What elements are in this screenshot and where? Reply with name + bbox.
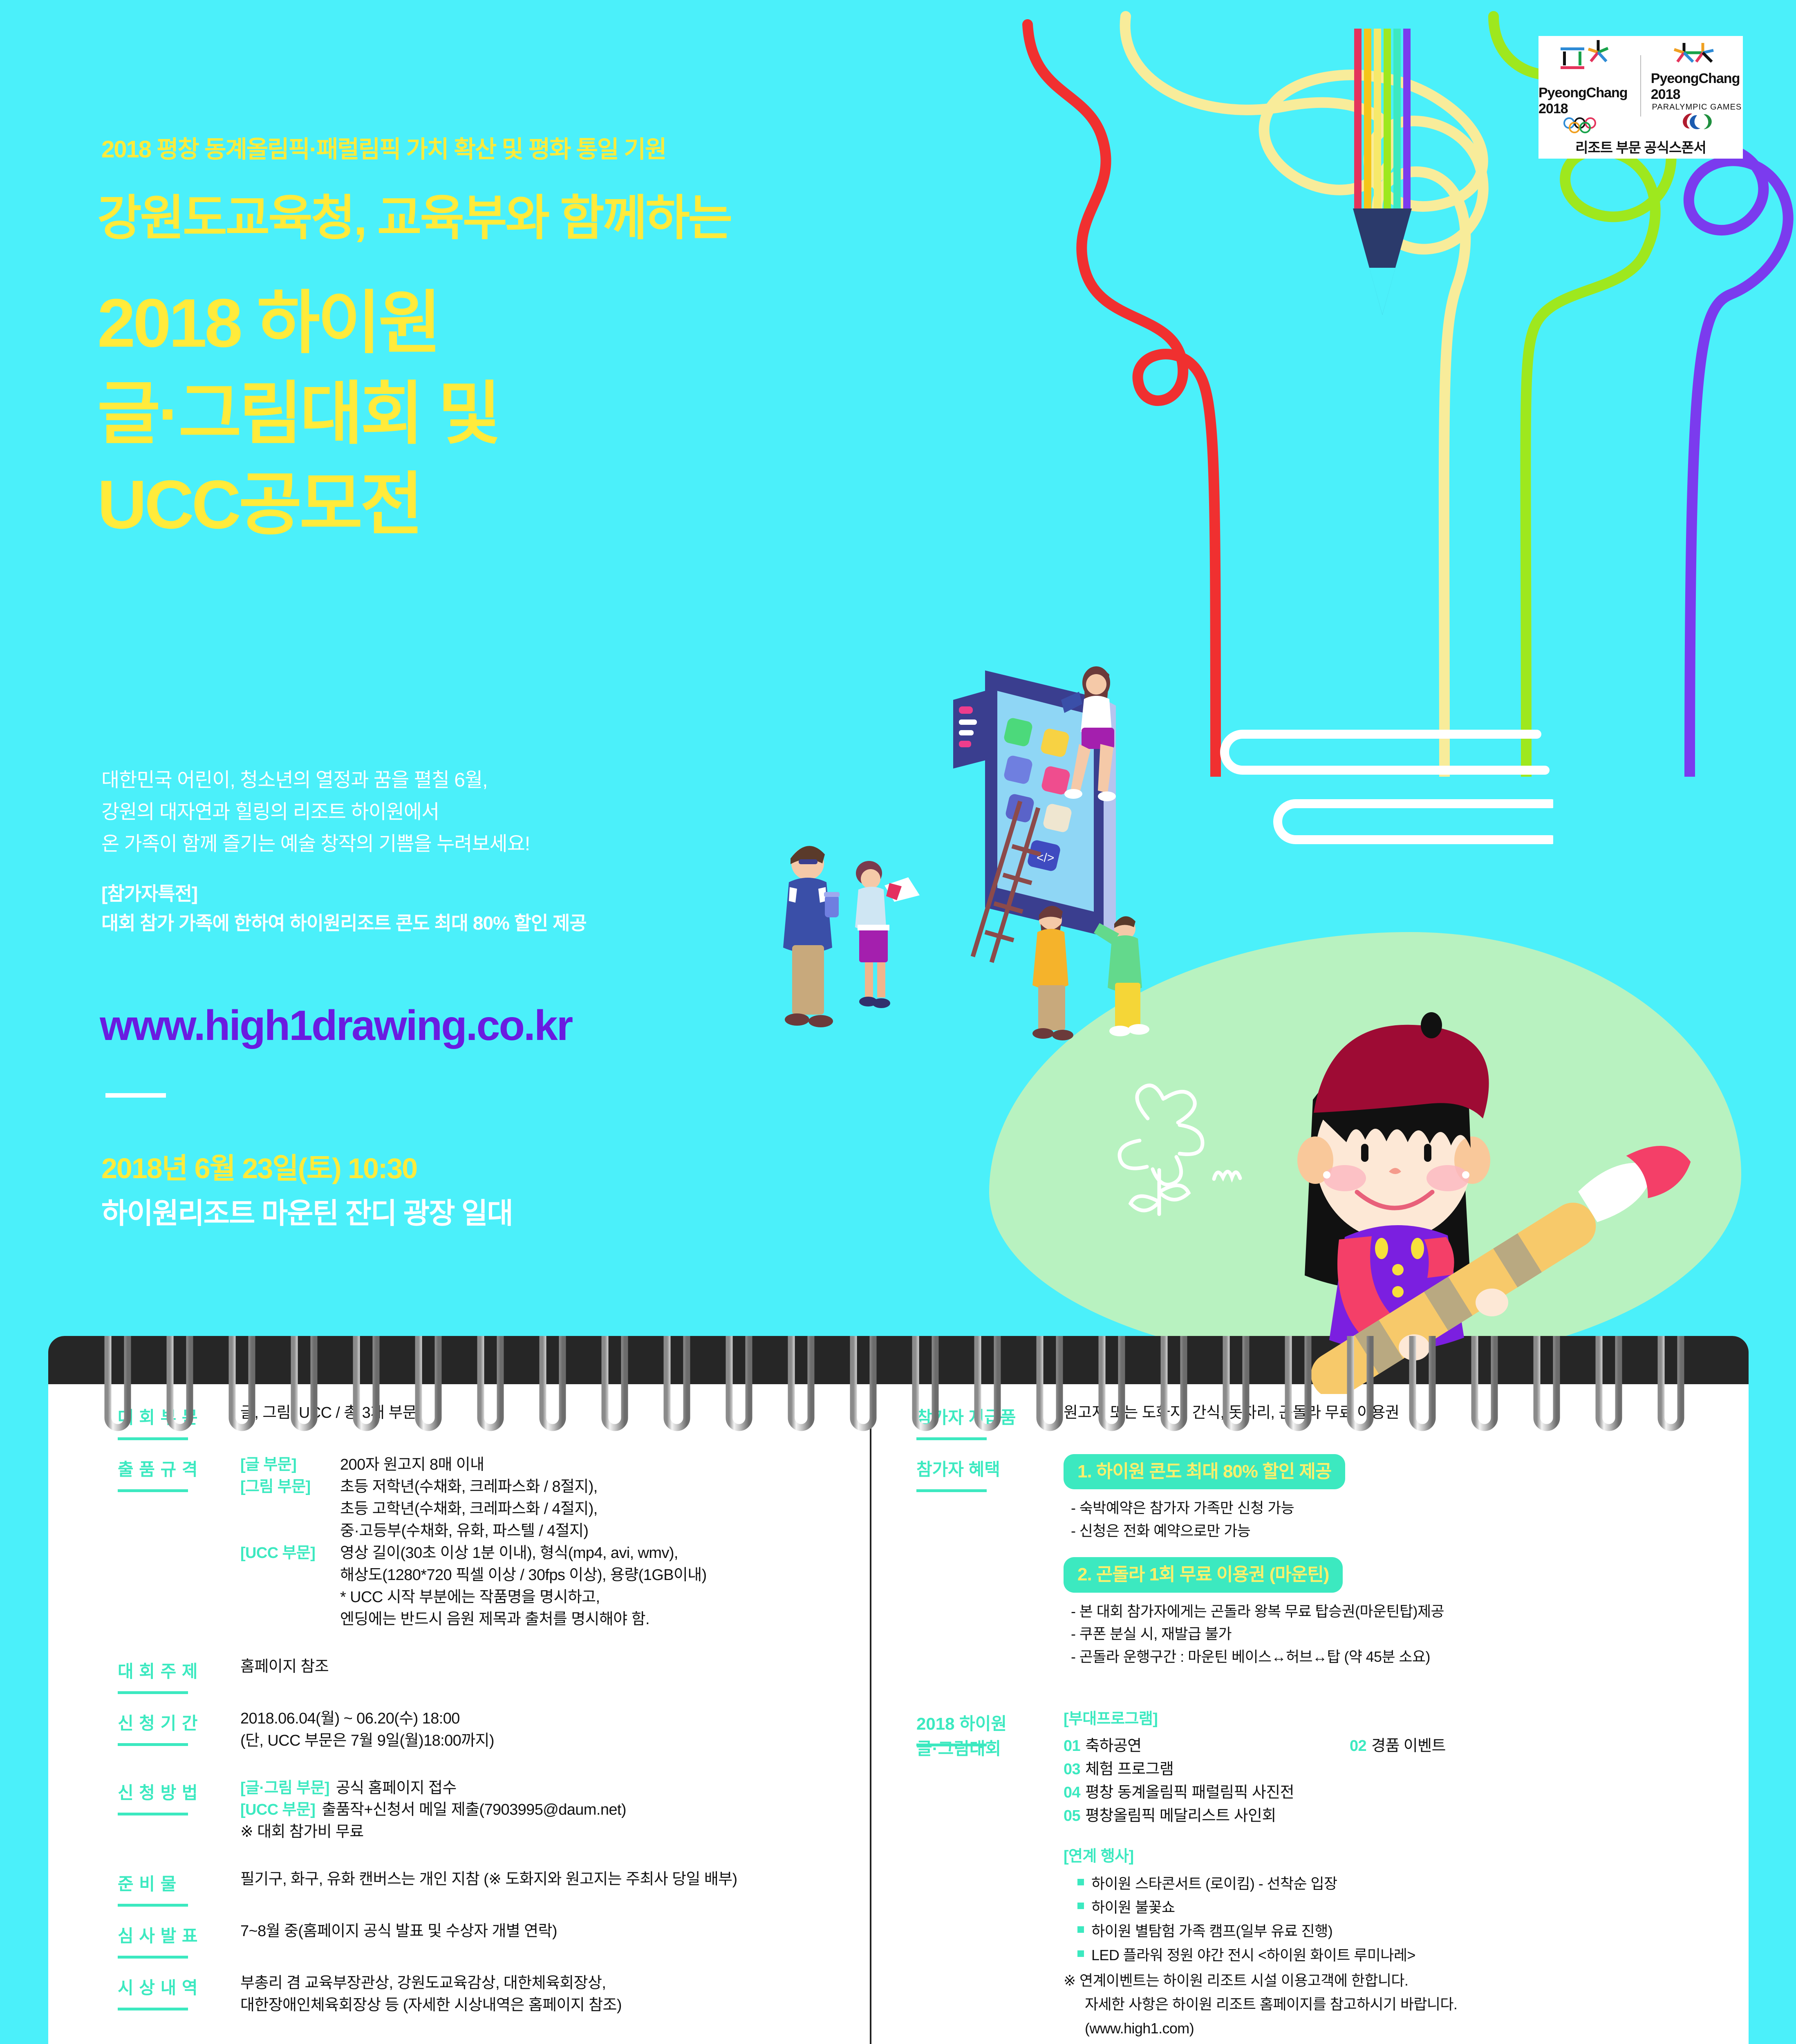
body-side-programs: [부대프로그램] 01 축하공연 02 경품 이벤트 03 체험 프로그램 — [1064, 1708, 1749, 2040]
label-awards: 시 상 내 역 — [118, 1972, 240, 2017]
spiral-ring — [356, 1336, 376, 1428]
spiral-ring — [108, 1336, 128, 1428]
program-number: 05 — [1064, 1804, 1080, 1828]
spec-writing: [글 부문] 200자 원고지 8매 이내 — [240, 1454, 870, 1476]
row-awards: 시 상 내 역 부총리 겸 교육부장관상, 강원도교육감상, 대한체육회장상, … — [118, 1972, 870, 2017]
spiral-ring — [978, 1336, 997, 1428]
label-participant-benefits: 참가자 혜택 — [916, 1454, 1064, 1683]
list-item: 하이원 별탐험 가족 캠프(일부 유료 진행) — [1064, 1919, 1749, 1943]
olympic-name: PyeongChang 2018 — [1538, 85, 1630, 117]
sponsor-marks: PyeongChang 2018 — [1538, 38, 1743, 133]
spiral-ring — [1599, 1336, 1619, 1428]
row-application-method: 신 청 방 법 [글·그림 부문] 공식 홈페이지 접수 [UCC 부문] 출품… — [118, 1777, 870, 1844]
spiral-ring — [791, 1336, 811, 1428]
text-line: 해상도(1280*720 픽셀 이상 / 30fps 이상), 용량(1GB이내… — [240, 1564, 870, 1587]
spiral-ring — [1040, 1336, 1059, 1428]
text-writing-drawing: 공식 홈페이지 접수 — [336, 1777, 457, 1800]
tag-drawing: [그림 부문] — [240, 1476, 334, 1498]
spiral-rings-host — [48, 1324, 1749, 1446]
body-application-period: 2018.06.04(월) ~ 06.20(수) 18:00 (단, UCC 부… — [240, 1708, 870, 1752]
event-place: 하이원리조트 마운틴 잔디 광장 일대 — [101, 1190, 513, 1232]
label-side-programs: 2018 하이원 글·그림대회 — [916, 1708, 1064, 2040]
details-left-column: 대 회 부 문 글, 그림, UCC / 총 3개 부문 출 품 규 격 [글 … — [48, 1402, 870, 2044]
text-ucc: 영상 길이(30초 이상 1분 이내), 형식(mp4, avi, wmv), — [340, 1542, 678, 1564]
paralympic-subtitle: PARALYMPIC GAMES — [1652, 103, 1742, 112]
program-number: 02 — [1350, 1735, 1366, 1758]
text-line: 필기구, 화구, 유화 캔버스는 개인 지참 (※ 도화지와 원고지는 주최사 … — [240, 1869, 870, 1891]
row-application-period: 신 청 기 간 2018.06.04(월) ~ 06.20(수) 18:00 (… — [118, 1708, 870, 1752]
text-line: 부총리 겸 교육부장관상, 강원도교육감상, 대한체육회장상, — [240, 1972, 870, 1995]
body-preparations: 필기구, 화구, 유화 캔버스는 개인 지참 (※ 도화지와 원고지는 주최사 … — [240, 1869, 870, 1895]
event-label: 하이원 스타콘서트 (로이킴) - 선착순 입장 — [1091, 1872, 1337, 1896]
text-line: 대한장애인체육회장상 등 (자세한 시상내역은 홈페이지 참조) — [240, 1995, 870, 2017]
spiral-ring — [916, 1336, 935, 1428]
text-line: (단, UCC 부문은 7월 9일(월)18:00까지) — [240, 1730, 870, 1752]
text-line: - 숙박예약은 참가자 가족만 신청 가능 — [1071, 1497, 1749, 1520]
row-competition-theme: 대 회 주 제 홈페이지 참조 — [118, 1656, 870, 1683]
body-participant-benefits: 1. 하이원 콘도 최대 80% 할인 제공 - 숙박예약은 참가자 가족만 신… — [1064, 1454, 1749, 1683]
event-label: 하이원 별탐험 가족 캠프(일부 유료 진행) — [1091, 1919, 1332, 1943]
poster-root: PyeongChang 2018 — [0, 0, 1796, 2044]
label-application-method: 신 청 방 법 — [118, 1777, 240, 1844]
label-application-period: 신 청 기 간 — [118, 1708, 240, 1752]
method-ucc: [UCC 부문] 출품작+신청서 메일 제출(7903995@daum.net) — [240, 1799, 870, 1821]
spiral-ring — [481, 1336, 500, 1428]
lede-paragraph: 대한민국 어린이, 청소년의 열정과 꿈을 펼칠 6월, 강원의 대자연과 힐링… — [101, 764, 530, 860]
sponsor-caption: 리조트 부문 공식스폰서 — [1575, 137, 1706, 157]
method-writing-drawing: [글·그림 부문] 공식 홈페이지 접수 — [240, 1777, 870, 1800]
bullet-square-icon — [1077, 1950, 1084, 1957]
bullet-square-icon — [1077, 1903, 1084, 1909]
list-item: LED 플라워 정원 야간 전시 <하이원 화이트 루미나레> — [1064, 1943, 1749, 1967]
details-columns: 대 회 부 문 글, 그림, UCC / 총 3개 부문 출 품 규 격 [글 … — [48, 1402, 1749, 2044]
benefit-title-2: 2. 곤돌라 1회 무료 이용권 (마운틴) — [1064, 1557, 1343, 1592]
benefit-bullets-1: - 숙박예약은 참가자 가족만 신청 가능 - 신청은 전화 예약으로만 가능 — [1064, 1497, 1749, 1542]
program-item: 01 축하공연 — [1064, 1735, 1350, 1758]
text-method-ucc: 출품작+신청서 메일 제출(7903995@daum.net) — [322, 1799, 626, 1821]
divider-rule — [105, 1093, 166, 1098]
text-line: 7~8월 중(홈페이지 공식 발표 및 수상자 개별 연락) — [240, 1921, 870, 1943]
text-line: 홈페이지 참조 — [240, 1656, 870, 1678]
side-programs-grid: 01 축하공연 02 경품 이벤트 03 체험 프로그램 04 — [1064, 1735, 1749, 1828]
text-line: * UCC 시작 부분에는 작품명을 명시하고, — [240, 1587, 870, 1609]
row-preparations: 준 비 물 필기구, 화구, 유화 캔버스는 개인 지참 (※ 도화지와 원고지… — [118, 1869, 870, 1895]
paralympic-name: PyeongChang 2018 — [1651, 71, 1743, 103]
spiral-ring — [1350, 1336, 1370, 1428]
olympic-mark: PyeongChang 2018 — [1538, 38, 1630, 133]
spiral-ring — [1164, 1336, 1184, 1428]
spiral-ring — [1226, 1336, 1246, 1428]
svg-text:</>: </> — [1037, 851, 1054, 865]
spiral-ring — [232, 1336, 252, 1428]
boy-with-cup-illustration — [756, 838, 862, 1051]
bullet-square-icon — [1077, 1926, 1084, 1933]
spiral-rings — [48, 1324, 1749, 1446]
text-line: - 본 대회 참가자에게는 곤돌라 왕복 무료 탑승권(마운틴탑)제공 — [1071, 1600, 1749, 1623]
benefit-title-1: 1. 하이원 콘도 최대 80% 할인 제공 — [1064, 1454, 1345, 1489]
spiral-ring — [1661, 1336, 1681, 1428]
row-side-programs: 2018 하이원 글·그림대회 [부대프로그램] 01 축하공연 02 경품 이… — [916, 1708, 1749, 2040]
body-submission-specs: [글 부문] 200자 원고지 8매 이내 [그림 부문] 초등 저학년(수채화… — [240, 1454, 870, 1631]
spiral-ring — [667, 1336, 687, 1428]
program-label: 평창올림픽 메달리스트 사인회 — [1085, 1804, 1276, 1828]
spiral-ring — [1537, 1336, 1556, 1428]
text-line: ※ 연계이벤트는 하이원 리조트 시설 이용고객에 한합니다. — [1064, 1969, 1749, 1992]
tag-ucc: [UCC 부문] — [240, 1542, 334, 1564]
text-line: 2018.06.04(월) ~ 06.20(수) 18:00 — [240, 1708, 870, 1730]
spiral-ring — [729, 1336, 749, 1428]
text-line: ※ 대회 참가비 무료 — [240, 1821, 870, 1843]
olympic-sponsor-badge: PyeongChang 2018 — [1538, 36, 1743, 159]
spiral-ring — [294, 1336, 314, 1428]
page-title: 2018 하이원 글·그림대회 및 UCC공모전 — [97, 278, 499, 550]
spiral-ring — [543, 1336, 562, 1428]
text-line: 자세한 사항은 하이원 리조트 홈페이지를 참고하시기 바랍니다. — [1064, 1992, 1749, 2016]
website-url-link[interactable]: www.high1drawing.co.kr — [100, 1002, 572, 1050]
body-competition-theme: 홈페이지 참조 — [240, 1656, 870, 1683]
spec-ucc: [UCC 부문] 영상 길이(30초 이상 1분 이내), 형식(mp4, av… — [240, 1542, 870, 1564]
list-item: 하이원 불꽃쇼 — [1064, 1896, 1749, 1919]
pyeongchang-olympic-emblem-icon — [1554, 38, 1615, 83]
body-results-announcement: 7~8월 중(홈페이지 공식 발표 및 수상자 개별 연락) — [240, 1921, 870, 1947]
program-item: 02 경품 이벤트 — [1350, 1735, 1636, 1758]
event-date: 2018년 6월 23일(토) 10:30 — [101, 1145, 417, 1187]
rainbow-pencil-icon — [1308, 29, 1455, 519]
linked-events-heading: [연계 행사] — [1064, 1846, 1749, 1868]
participant-perk-text: 대회 참가 가족에 한하여 하이원리조트 콘도 최대 80% 할인 제공 — [101, 908, 587, 935]
program-label: 체험 프로그램 — [1085, 1758, 1173, 1781]
label-competition-theme: 대 회 주 제 — [118, 1656, 240, 1683]
spec-drawing: [그림 부문] 초등 저학년(수채화, 크레파스화 / 8절지), — [240, 1476, 870, 1498]
text-writing: 200자 원고지 8매 이내 — [340, 1454, 484, 1476]
badge-divider — [1640, 55, 1641, 117]
spiral-ring — [605, 1336, 625, 1428]
green-blob-shape — [989, 932, 1741, 1365]
eyebrow-text: 2018 평창 동계올림픽·패럴림픽 가치 확산 및 평화 통일 기원 — [101, 130, 666, 164]
program-number: 03 — [1064, 1758, 1080, 1781]
text-line: 초등 고학년(수채화, 크레파스화 / 4절지), — [240, 1498, 870, 1520]
bullet-square-icon — [1077, 1879, 1084, 1885]
programs-label-line2: 글·그림대회 — [916, 1735, 1064, 1760]
spiral-ring — [1413, 1336, 1432, 1428]
tag-writing: [글 부문] — [240, 1454, 334, 1476]
text-line: 엔딩에는 반드시 음원 제목과 출처를 명시해야 함. — [240, 1609, 870, 1631]
row-results-announcement: 심 사 발 표 7~8월 중(홈페이지 공식 발표 및 수상자 개별 연락) — [118, 1921, 870, 1947]
benefit-bullets-2: - 본 대회 참가자에게는 곤돌라 왕복 무료 탑승권(마운틴탑)제공 - 쿠폰… — [1064, 1600, 1749, 1668]
program-label: 경품 이벤트 — [1371, 1735, 1446, 1758]
label-submission-specs: 출 품 규 격 — [118, 1454, 240, 1631]
text-line: - 신청은 전화 예약으로만 가능 — [1071, 1520, 1749, 1542]
text-line: - 곤돌라 운행구간 : 마운틴 베이스↔허브↔탑 (약 45분 소요) — [1071, 1645, 1749, 1668]
list-item: 하이원 스타콘서트 (로이킴) - 선착순 입장 — [1064, 1872, 1749, 1896]
participant-perk-label: [참가자특전] — [101, 879, 197, 906]
row-participant-benefits: 참가자 혜택 1. 하이원 콘도 최대 80% 할인 제공 - 숙박예약은 참가… — [916, 1454, 1749, 1683]
tag-method-ucc: [UCC 부문] — [240, 1799, 315, 1821]
program-item: 04 평창 동계올림픽 패럴림픽 사진전 — [1064, 1781, 1554, 1804]
body-application-method: [글·그림 부문] 공식 홈페이지 접수 [UCC 부문] 출품작+신청서 메일… — [240, 1777, 870, 1844]
details-right-column: 참가자 지급품 원고지 또는 도화지, 간식, 돗자리, 곤돌라 무료 이용권 … — [870, 1402, 1749, 2044]
label-preparations: 준 비 물 — [118, 1869, 240, 1895]
spiral-ring — [170, 1336, 190, 1428]
pyeongchang-paralympic-emblem-icon — [1666, 40, 1727, 69]
spiral-ring — [853, 1336, 873, 1428]
spiral-ring — [419, 1336, 438, 1428]
side-programs-heading: [부대프로그램] — [1064, 1708, 1749, 1730]
agitos-icon — [1678, 112, 1715, 131]
program-label: 축하공연 — [1085, 1735, 1141, 1758]
text-line: - 쿠폰 분실 시, 재발급 불가 — [1071, 1623, 1749, 1645]
white-loop-lines-icon — [1104, 719, 1553, 908]
event-label: 하이원 불꽃쇼 — [1091, 1896, 1175, 1919]
text-line: (www.high1.com) — [1064, 2017, 1749, 2040]
tag-writing-drawing: [글·그림 부문] — [240, 1777, 329, 1800]
linked-events-note: ※ 연계이벤트는 하이원 리조트 시설 이용고객에 한합니다. 자세한 사항은 … — [1064, 1969, 1749, 2040]
paralympic-mark: PyeongChang 2018 PARALYMPIC GAMES — [1651, 40, 1743, 131]
linked-events-list: 하이원 스타콘서트 (로이킴) - 선착순 입장 하이원 불꽃쇼 하이원 별탐험… — [1064, 1872, 1749, 2040]
body-awards: 부총리 겸 교육부장관상, 강원도교육감상, 대한체육회장상, 대한장애인체육회… — [240, 1972, 870, 2017]
programs-label-line1: 2018 하이원 — [916, 1710, 1064, 1735]
spiral-ring — [1475, 1336, 1494, 1428]
program-item: 05 평창올림픽 메달리스트 사인회 — [1064, 1804, 1276, 1828]
event-label: LED 플라워 정원 야간 전시 <하이원 화이트 루미나레> — [1091, 1943, 1415, 1967]
program-number: 04 — [1064, 1781, 1080, 1804]
program-number: 01 — [1064, 1735, 1080, 1758]
label-results-announcement: 심 사 발 표 — [118, 1921, 240, 1947]
program-item: 03 체험 프로그램 — [1064, 1758, 1350, 1781]
olympic-rings-icon — [1560, 117, 1609, 133]
text-drawing: 초등 저학년(수채화, 크레파스화 / 8절지), — [340, 1476, 598, 1498]
title-line-1: 강원도교육청, 교육부와 함께하는 — [97, 192, 731, 245]
program-label: 평창 동계올림픽 패럴림픽 사진전 — [1085, 1781, 1294, 1804]
spiral-ring — [1102, 1336, 1122, 1428]
spiral-ring — [1288, 1336, 1308, 1428]
text-line: 중·고등부(수채화, 유화, 파스텔 / 4절지) — [240, 1520, 870, 1542]
row-submission-specs: 출 품 규 격 [글 부문] 200자 원고지 8매 이내 [그림 부문] 초등… — [118, 1454, 870, 1631]
